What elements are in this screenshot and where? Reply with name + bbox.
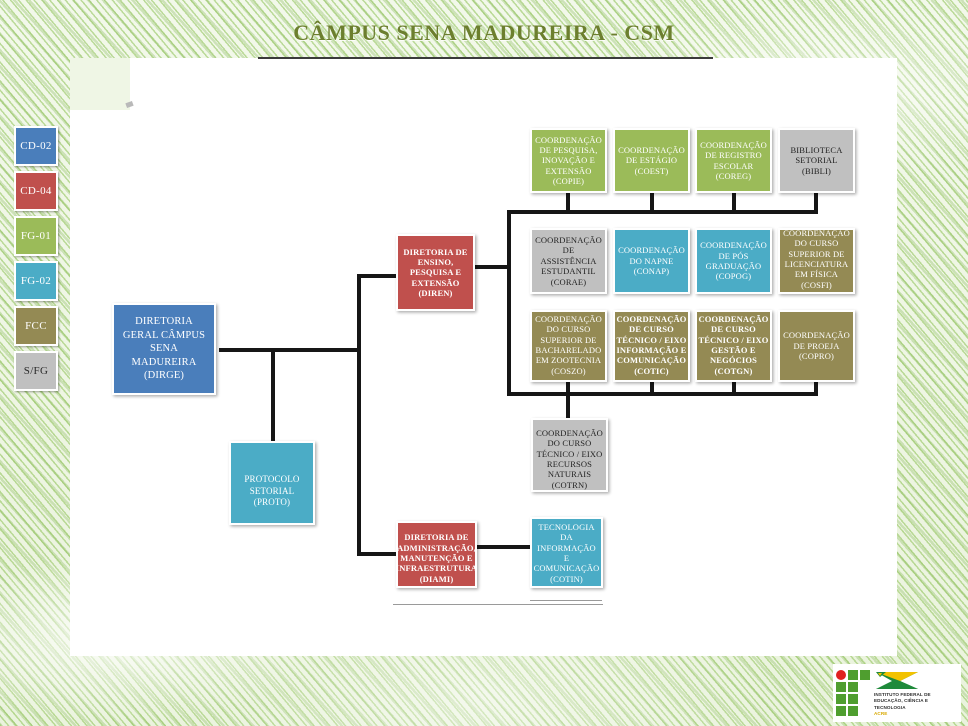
- legend-item-cd02[interactable]: CD-02: [14, 126, 58, 166]
- org-node-cotic[interactable]: COORDENAÇÃO DE CURSO TÉCNICO / EIXO INFO…: [613, 310, 690, 382]
- connector-diren-out: [475, 265, 511, 269]
- org-node-label: COORDENAÇÃO DE PÓS GRADUAÇÃO (COPOG): [700, 240, 767, 281]
- org-node-diami[interactable]: DIRETORIA DE ADMINISTRAÇÃO, MANUTENÇÃO E…: [396, 521, 477, 588]
- connector-main-riser: [357, 274, 361, 352]
- slide-canvas: CÂMPUS SENA MADUREIRA - CSM CD-02 CD-04 …: [0, 0, 968, 726]
- org-node-coreg[interactable]: COORDENAÇÃO DE REGISTRO ESCOLAR (COREG): [695, 128, 772, 193]
- institution-logo: INSTITUTO FEDERAL DE EDUCAÇÃO, CIÊNCIA E…: [833, 664, 961, 722]
- logo-cell: [848, 706, 858, 716]
- connector-dirge-trunk: [219, 348, 361, 352]
- logo-line-2: EDUCAÇÃO, CIÊNCIA E TECNOLOGIA: [874, 698, 958, 710]
- legend-item-label: CD-02: [20, 140, 51, 152]
- org-node-copog[interactable]: COORDENAÇÃO DE PÓS GRADUAÇÃO (COPOG): [695, 228, 772, 294]
- if-grid-icon: [836, 670, 870, 716]
- org-node-label: COORDENAÇÃO DE TECNOLOGIA DA INFORMAÇÃO …: [533, 517, 600, 584]
- connector-stub-cotgn: [732, 382, 736, 394]
- org-node-coszo[interactable]: COORDENAÇÃO DO CURSO SUPERIOR DE BACHARE…: [530, 310, 607, 382]
- org-node-label: COORDENAÇÃO DE ESTÁGIO (COEST): [618, 145, 685, 176]
- logo-cell: [848, 694, 858, 704]
- org-node-proto[interactable]: PROTOCOLO SETORIAL (PROTO): [229, 441, 315, 525]
- org-node-cotrn[interactable]: COORDENAÇÃO DO CURSO TÉCNICO / EIXO RECU…: [531, 418, 608, 492]
- org-node-cotin[interactable]: COORDENAÇÃO DE TECNOLOGIA DA INFORMAÇÃO …: [530, 517, 603, 588]
- legend-item-fg01[interactable]: FG-01: [14, 216, 58, 256]
- connector-diren-feed: [357, 274, 401, 278]
- connector-diami-to-cotin: [477, 545, 532, 549]
- org-node-corae[interactable]: COORDENAÇÃO DE ASSISTÊNCIA ESTUDANTIL (C…: [530, 228, 607, 294]
- connector-top-rail: [507, 210, 818, 214]
- org-node-diren[interactable]: DIRETORIA DE ENSINO, PESQUISA E EXTENSÃO…: [396, 234, 475, 311]
- org-node-label: COORDENAÇÃO DE PROEJA (COPRO): [783, 330, 850, 361]
- title-underline: [258, 57, 713, 59]
- connector-stub-copie: [566, 193, 570, 213]
- logo-cell: [848, 682, 858, 692]
- legend-item-label: FCC: [25, 320, 47, 332]
- connector-diami-riser: [357, 348, 361, 556]
- org-node-label: COORDENAÇÃO DE ASSISTÊNCIA ESTUDANTIL (C…: [534, 235, 603, 287]
- logo-cell: [848, 670, 858, 680]
- logo-cell-empty: [860, 706, 870, 716]
- logo-line-3: ACRE: [874, 711, 958, 717]
- org-node-bibli[interactable]: BIBLIOTECA SETORIAL (BIBLI): [778, 128, 855, 193]
- legend-item-label: FG-02: [21, 275, 51, 287]
- logo-cell-empty: [860, 682, 870, 692]
- org-node-label: COORDENAÇÃO DO NAPNE (CONAP): [618, 245, 685, 276]
- legend-item-fcc[interactable]: FCC: [14, 306, 58, 346]
- org-node-label: PROTOCOLO SETORIAL (PROTO): [244, 474, 299, 509]
- org-node-label: COORDENAÇÃO DO CURSO TÉCNICO / EIXO RECU…: [536, 428, 603, 490]
- logo-cell-red: [836, 670, 846, 680]
- logo-cell: [836, 706, 846, 716]
- org-node-label: COORDENAÇÃO DE PESQUISA, INOVAÇÃO E EXTE…: [535, 135, 602, 187]
- org-node-coest[interactable]: COORDENAÇÃO DE ESTÁGIO (COEST): [613, 128, 690, 193]
- legend-item-cd04[interactable]: CD-04: [14, 171, 58, 211]
- org-node-label: COORDENAÇÃO DE CURSO TÉCNICO / EIXO INFO…: [616, 314, 686, 376]
- connector-stub-coreg: [732, 193, 736, 213]
- legend-item-label: FG-01: [21, 230, 51, 242]
- legend-panel: CD-02 CD-04 FG-01 FG-02 FCC S/FG: [14, 126, 58, 396]
- org-node-label: COORDENAÇÃO DE REGISTRO ESCOLAR (COREG): [700, 140, 767, 181]
- legend-item-fg02[interactable]: FG-02: [14, 261, 58, 301]
- org-node-label: COORDENAÇÃO DO CURSO SUPERIOR DE LICENCI…: [783, 228, 850, 290]
- org-node-label: DIRETORIA DE ENSINO, PESQUISA E EXTENSÃO…: [400, 247, 471, 299]
- org-node-copie[interactable]: COORDENAÇÃO DE PESQUISA, INOVAÇÃO E EXTE…: [530, 128, 607, 193]
- connector-bottom-rail: [507, 392, 818, 396]
- logo-cell-empty: [860, 694, 870, 704]
- legend-item-label: S/FG: [24, 365, 48, 377]
- connector-stub-coest: [650, 193, 654, 213]
- connector-cotrn-drop: [566, 392, 570, 418]
- org-node-label: COORDENAÇÃO DO CURSO SUPERIOR DE BACHARE…: [535, 314, 602, 376]
- org-node-label: DIRETORIA GERAL CÂMPUS SENA MADUREIRA (D…: [123, 315, 205, 383]
- org-node-conap[interactable]: COORDENAÇÃO DO NAPNE (CONAP): [613, 228, 690, 294]
- logo-text-group: INSTITUTO FEDERAL DE EDUCAÇÃO, CIÊNCIA E…: [874, 692, 958, 717]
- org-node-copro[interactable]: COORDENAÇÃO DE PROEJA (COPRO): [778, 310, 855, 382]
- connector-diami-feed: [357, 552, 401, 556]
- connector-proto-drop: [271, 348, 275, 441]
- connector-bus-vertical: [507, 210, 511, 396]
- legend-item-sfg[interactable]: S/FG: [14, 351, 58, 391]
- org-node-cotgn[interactable]: COORDENAÇÃO DE CURSO TÉCNICO / EIXO GEST…: [695, 310, 772, 382]
- logo-cell: [860, 670, 870, 680]
- connector-stub-cotic: [650, 382, 654, 394]
- acre-flag-icon: [874, 669, 920, 691]
- logo-cell: [836, 682, 846, 692]
- logo-right-group: INSTITUTO FEDERAL DE EDUCAÇÃO, CIÊNCIA E…: [874, 669, 958, 717]
- legend-item-label: CD-04: [20, 185, 51, 197]
- org-node-label: DIRETORIA DE ADMINISTRAÇÃO, MANUTENÇÃO E…: [396, 532, 477, 584]
- connector-stub-copro: [814, 382, 818, 394]
- connector-stub-bibli: [814, 193, 818, 213]
- org-node-label: COORDENAÇÃO DE CURSO TÉCNICO / EIXO GEST…: [698, 314, 768, 376]
- org-node-dirge[interactable]: DIRETORIA GERAL CÂMPUS SENA MADUREIRA (D…: [112, 303, 216, 395]
- page-title: CÂMPUS SENA MADUREIRA - CSM: [0, 20, 968, 46]
- org-node-cosfi[interactable]: COORDENAÇÃO DO CURSO SUPERIOR DE LICENCI…: [778, 228, 855, 294]
- org-node-label: BIBLIOTECA SETORIAL (BIBLI): [790, 145, 842, 176]
- logo-cell: [836, 694, 846, 704]
